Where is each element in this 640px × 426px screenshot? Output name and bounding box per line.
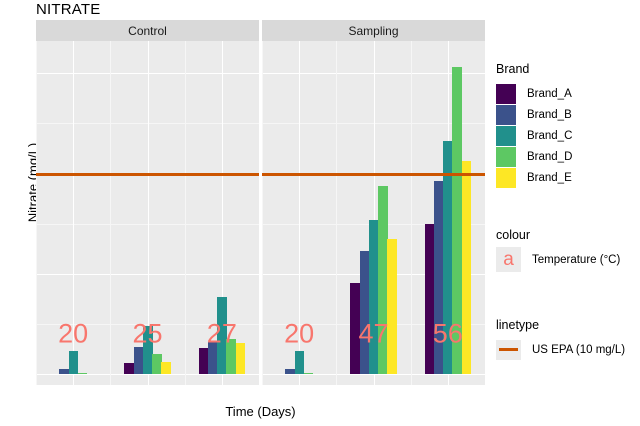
- legend-colour-label: Temperature (°C): [532, 254, 620, 266]
- gridline-minor-vertical: [336, 41, 337, 385]
- legend-item-temperature[interactable]: a Temperature (°C): [496, 249, 620, 270]
- gridline-minor-vertical: [185, 41, 186, 385]
- threshold-line-us-epa: [36, 173, 259, 175]
- legend-swatch-icon: [496, 147, 516, 167]
- legend-swatch-icon: [496, 168, 516, 188]
- plot-panel: 20475601428: [262, 41, 485, 385]
- legend-brand-title: Brand: [496, 62, 572, 76]
- plot-panel: 20252701428051015: [36, 41, 259, 385]
- gridline-minor-vertical: [262, 41, 263, 385]
- line-glyph: [499, 348, 518, 350]
- legend-item-label: Brand_D: [527, 151, 572, 163]
- legend-swatch-icon: [496, 105, 516, 125]
- swatch-fill: [496, 168, 516, 188]
- legend-item-brand_a[interactable]: Brand_A: [496, 83, 572, 104]
- bar: [78, 373, 88, 374]
- bar: [295, 351, 305, 374]
- letter-a-icon: a: [496, 247, 521, 272]
- legend-item-label: Brand_C: [527, 130, 572, 142]
- legend-item-brand_b[interactable]: Brand_B: [496, 104, 572, 125]
- legend-item-brand_c[interactable]: Brand_C: [496, 125, 572, 146]
- legend-linetype: linetype US EPA (10 mg/L): [496, 318, 625, 360]
- swatch-fill: [496, 105, 516, 125]
- facet-strip-label: Sampling: [262, 20, 485, 41]
- bar: [161, 362, 171, 374]
- legend-item-brand_e[interactable]: Brand_E: [496, 167, 572, 188]
- legend-swatch-icon: [496, 84, 516, 104]
- legend-item-brand_d[interactable]: Brand_D: [496, 146, 572, 167]
- line-swatch-icon: [496, 340, 521, 360]
- legend-brand: Brand Brand_ABrand_BBrand_CBrand_DBrand_…: [496, 62, 572, 188]
- bar: [236, 343, 246, 374]
- chart-root: NITRATE Nitrate (mg/L) Time (Days) Contr…: [0, 0, 640, 426]
- x-axis-label: Time (Days): [36, 404, 485, 419]
- gridline-minor-vertical: [411, 41, 412, 385]
- legend-colour-title: colour: [496, 228, 620, 242]
- legend-item-us-epa[interactable]: US EPA (10 mg/L): [496, 339, 625, 360]
- legend-item-label: Brand_A: [527, 88, 572, 100]
- swatch-fill: [496, 147, 516, 167]
- legend-item-label: Brand_B: [527, 109, 572, 121]
- legend-linetype-label: US EPA (10 mg/L): [532, 344, 625, 356]
- page-title: NITRATE: [36, 1, 100, 18]
- facet-strip-label: Control: [36, 20, 259, 41]
- bar: [69, 351, 79, 374]
- swatch-fill: [496, 126, 516, 146]
- legend-swatch-icon: [496, 126, 516, 146]
- legend-linetype-title: linetype: [496, 318, 625, 332]
- bar: [387, 239, 397, 374]
- gridline-minor-vertical: [110, 41, 111, 385]
- facet-control: Control20252701428051015: [36, 20, 259, 385]
- gridline-major-vertical: [299, 41, 300, 385]
- gridline-major-vertical: [73, 41, 74, 385]
- legend-item-label: Brand_E: [527, 172, 572, 184]
- facet-sampling: Sampling20475601428: [262, 20, 485, 385]
- bar: [304, 373, 314, 374]
- legend-colour: colour a Temperature (°C): [496, 228, 620, 270]
- threshold-line-us-epa: [262, 173, 485, 175]
- gridline-minor-vertical: [36, 41, 37, 385]
- legend-brand-items: Brand_ABrand_BBrand_CBrand_DBrand_E: [496, 83, 572, 188]
- swatch-fill: [496, 84, 516, 104]
- bar: [462, 161, 472, 374]
